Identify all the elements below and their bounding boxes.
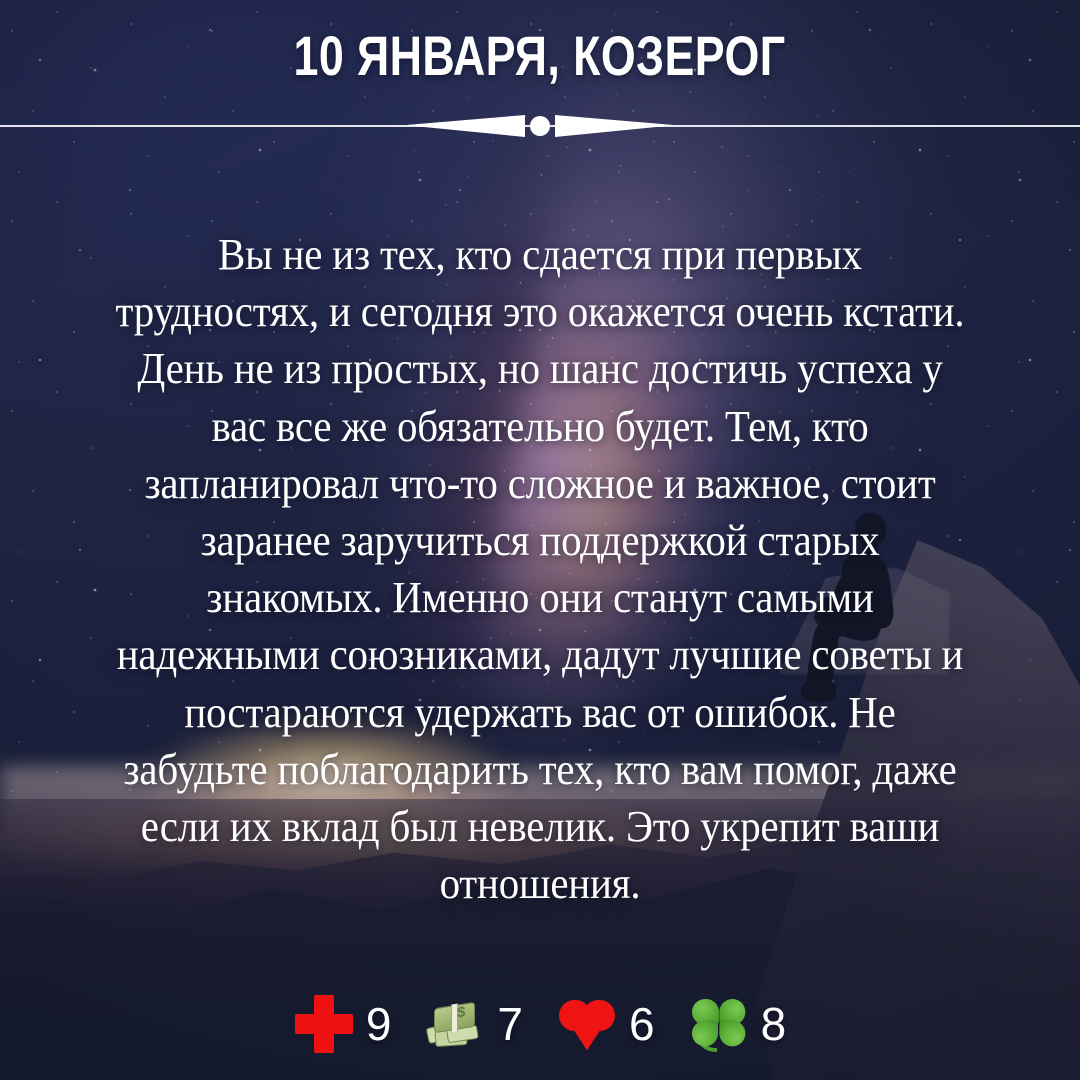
clover-icon xyxy=(689,994,749,1054)
score-item-money: $ 7 xyxy=(425,994,523,1054)
score-value-money: 7 xyxy=(497,1001,523,1047)
score-value-health: 9 xyxy=(366,1001,392,1047)
page-title: 10 ЯНВАРЯ, КОЗЕРОГ xyxy=(294,28,786,84)
divider-center-dot-icon xyxy=(530,116,550,136)
divider-ornament xyxy=(405,115,675,137)
red-cross-icon xyxy=(294,994,354,1054)
divider-right-spear-icon xyxy=(555,115,675,137)
ornamental-divider xyxy=(0,104,1080,148)
score-item-love: 6 xyxy=(557,994,655,1054)
money-stack-icon: $ xyxy=(425,994,485,1054)
horoscope-body-text: Вы не из тех, кто сдается при первых тру… xyxy=(112,226,968,912)
score-value-luck: 8 xyxy=(761,1001,787,1047)
horoscope-card: 10 ЯНВАРЯ, КОЗЕРОГ Вы не из тех, кто сда… xyxy=(0,0,1080,1080)
score-item-luck: 8 xyxy=(689,994,787,1054)
score-value-love: 6 xyxy=(629,1001,655,1047)
score-row: 9 $ 7 6 xyxy=(0,994,1080,1054)
score-item-health: 9 xyxy=(294,994,392,1054)
card-content: 10 ЯНВАРЯ, КОЗЕРОГ Вы не из тех, кто сда… xyxy=(0,0,1080,1080)
divider-left-spear-icon xyxy=(405,115,525,137)
heart-icon xyxy=(557,994,617,1054)
